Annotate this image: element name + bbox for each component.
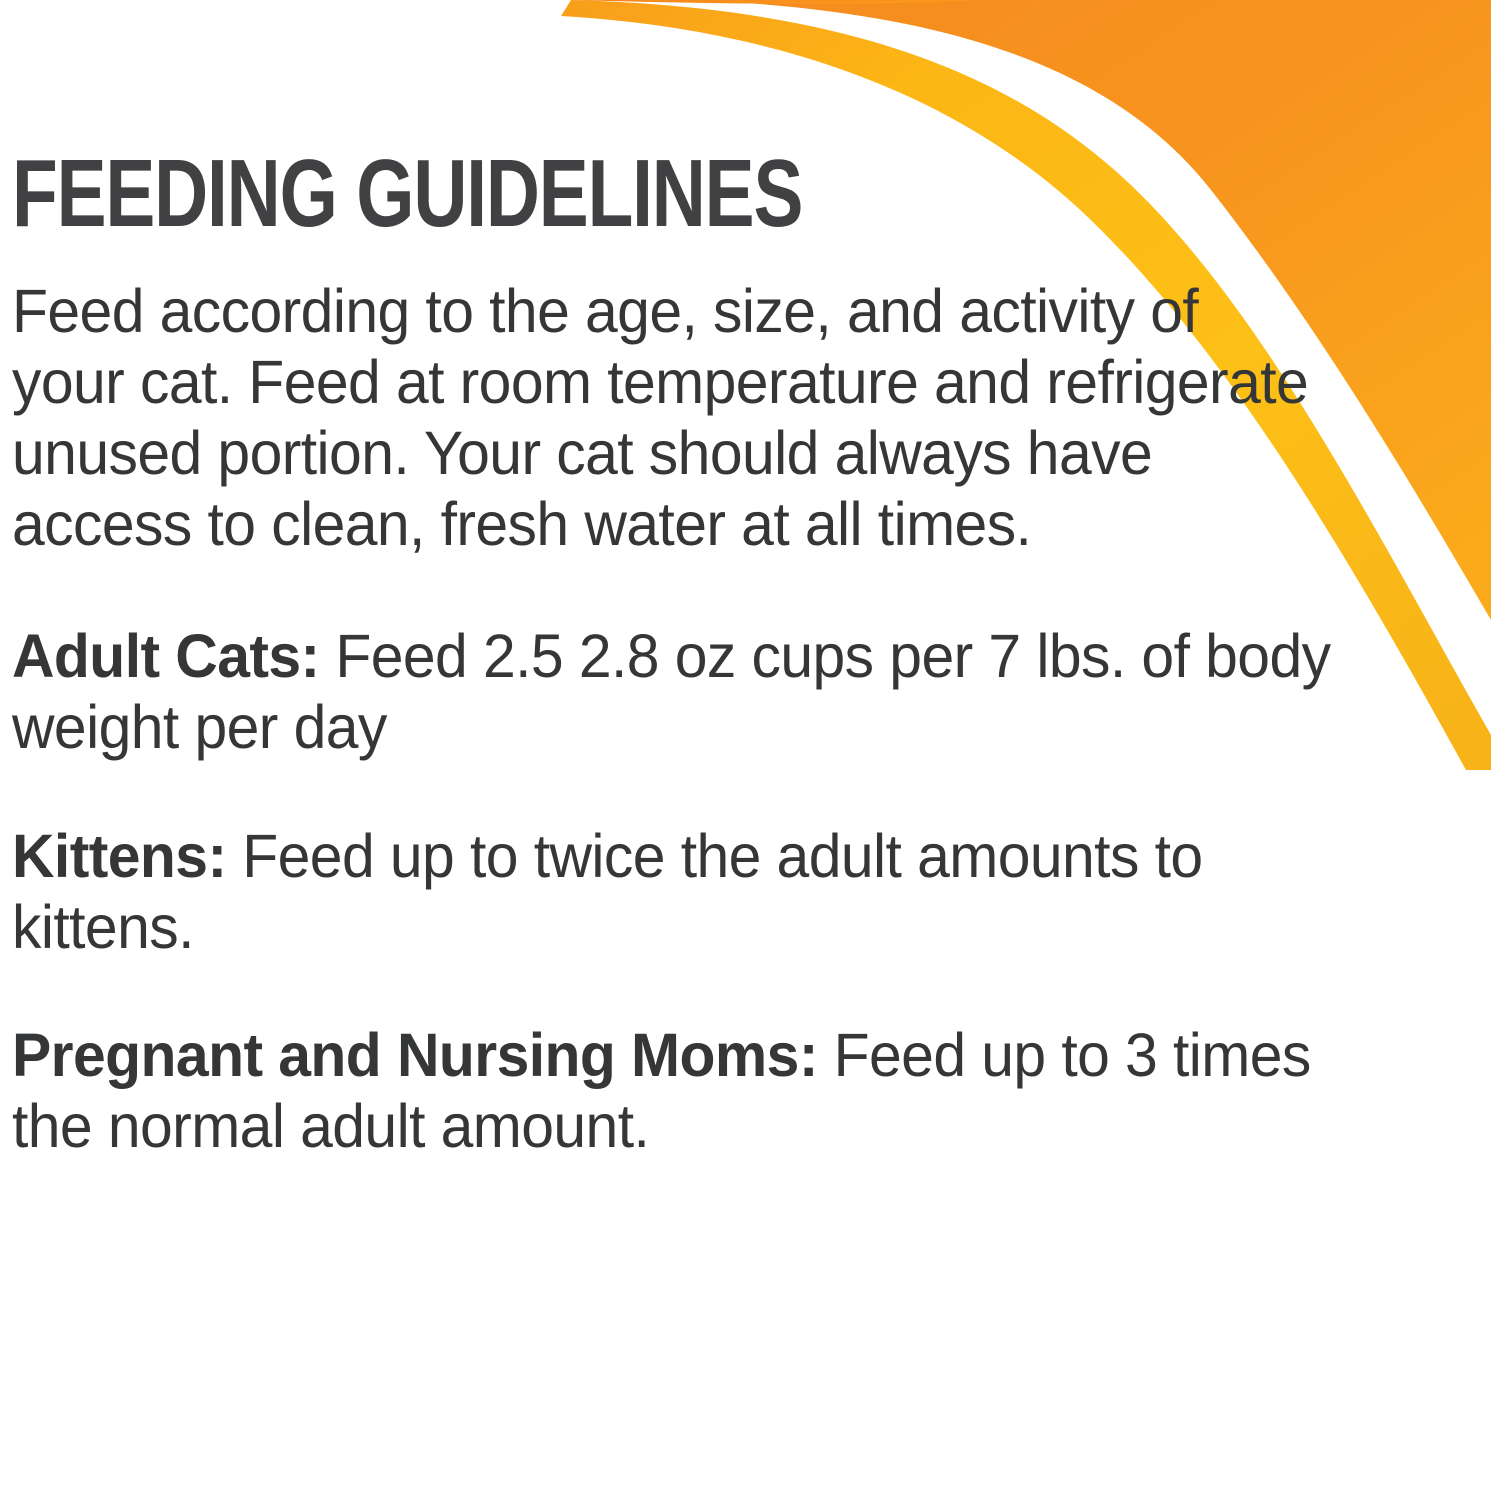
intro-paragraph: Feed according to the age, size, and act… bbox=[12, 238, 1310, 559]
page-title: FEEDING GUIDELINES bbox=[12, 0, 1104, 238]
content-column: FEEDING GUIDELINES Feed according to the… bbox=[12, 0, 1412, 1162]
feeding-guidelines-panel: FEEDING GUIDELINES Feed according to the… bbox=[0, 0, 1491, 1500]
guideline-kittens-label: Kittens: bbox=[12, 822, 226, 890]
guideline-adult-cats-label: Adult Cats: bbox=[12, 622, 320, 690]
guideline-pregnant-nursing-moms-label: Pregnant and Nursing Moms: bbox=[12, 1021, 818, 1089]
guideline-adult-cats: Adult Cats: Feed 2.5 2.8 oz cups per 7 l… bbox=[12, 559, 1363, 763]
guideline-pregnant-nursing-moms: Pregnant and Nursing Moms: Feed up to 3 … bbox=[12, 962, 1363, 1162]
guideline-kittens: Kittens: Feed up to twice the adult amou… bbox=[12, 763, 1363, 963]
